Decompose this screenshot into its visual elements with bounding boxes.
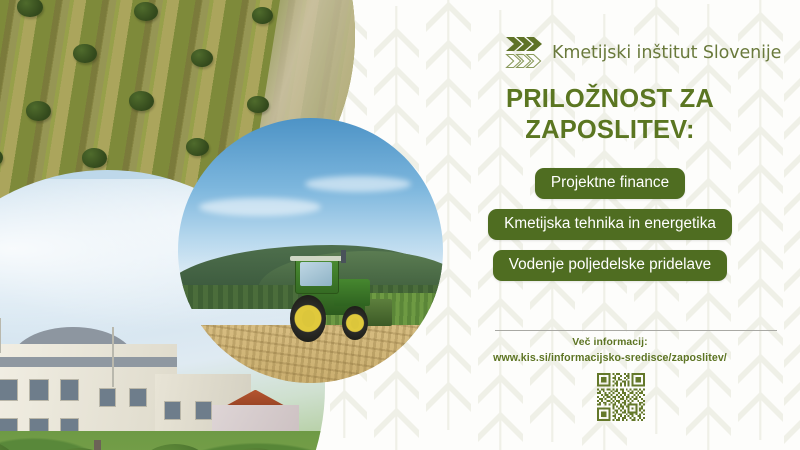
position-pill-kmetijska-tehnika-in-energetika[interactable]: Kmetijska tehnika in energetika bbox=[488, 209, 732, 240]
more-info-label: Več informacij: bbox=[420, 337, 800, 348]
page-title: PRILOŽNOST ZA ZAPOSLITEV: bbox=[420, 84, 800, 146]
photo-collage bbox=[0, 0, 420, 450]
organization-name: Kmetijski inštitut Slovenije bbox=[552, 43, 781, 63]
organization-logo: Kmetijski inštitut Slovenije bbox=[505, 36, 781, 70]
open-positions-list: Projektne finance Kmetijska tehnika in e… bbox=[420, 168, 800, 281]
job-vacancy-poster: Kmetijski inštitut Slovenije PRILOŽNOST … bbox=[0, 0, 800, 450]
position-pill-projektne-finance[interactable]: Projektne finance bbox=[535, 168, 685, 199]
vacancy-url[interactable]: www.kis.si/informacijsko-sredisce/zaposl… bbox=[420, 352, 800, 364]
wheat-chevron-logo-icon bbox=[505, 36, 543, 70]
tractor-illustration bbox=[265, 256, 387, 346]
qr-code[interactable] bbox=[597, 373, 645, 421]
headline-line-1: PRILOŽNOST ZA bbox=[420, 84, 800, 115]
poster-content-panel: Kmetijski inštitut Slovenije PRILOŽNOST … bbox=[420, 0, 800, 450]
headline-line-2: ZAPOSLITEV: bbox=[420, 115, 800, 146]
position-pill-vodenje-poljedelske-pridelave[interactable]: Vodenje poljedelske pridelave bbox=[493, 250, 727, 281]
tractor-in-field-photo bbox=[178, 118, 443, 383]
footer-divider bbox=[495, 330, 777, 331]
